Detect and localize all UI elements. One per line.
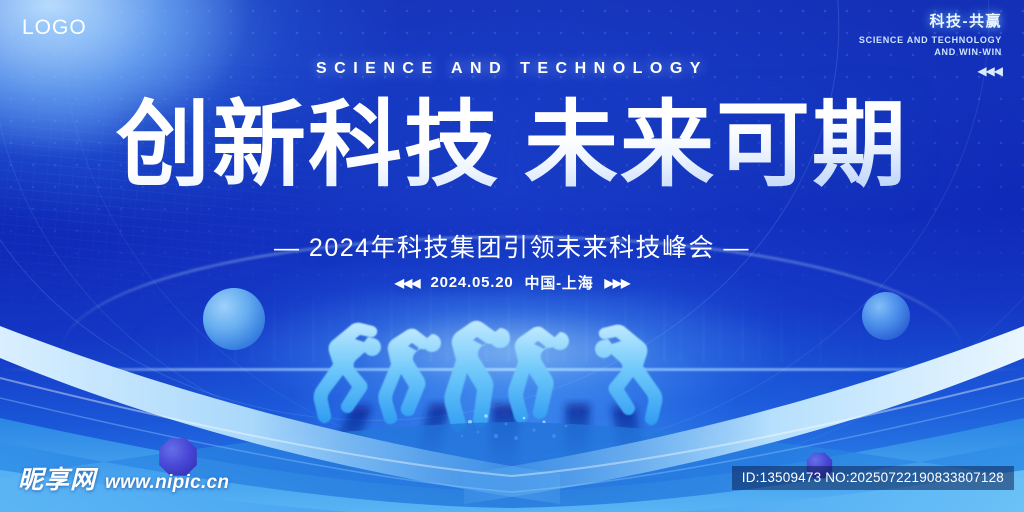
event-date: 2024.05.20 bbox=[430, 274, 513, 291]
logo-text[interactable]: LOGO bbox=[22, 16, 87, 40]
corner-slogan-en-line1: SCIENCE AND TECHNOLOGY bbox=[859, 35, 1002, 45]
title-part-right: 未来可期 bbox=[524, 94, 908, 198]
page-title: 创新科技未来可期 bbox=[0, 96, 1024, 198]
watermark: 昵享网 www.nipic.cn bbox=[18, 460, 229, 496]
subtitle-text: — 2024年科技集团引领未来科技峰会 — bbox=[0, 228, 1024, 264]
watermark-brand-cn: 昵享网 bbox=[18, 460, 96, 496]
corner-slogan-en-line2: AND WIN-WIN bbox=[859, 47, 1002, 57]
title-part-left: 创新科技 bbox=[116, 94, 500, 198]
event-meta: ◀◀◀ 2024.05.20 中国-上海 ▶▶▶ bbox=[0, 272, 1024, 293]
right-triangles-icon: ▶▶▶ bbox=[605, 276, 630, 290]
corner-slogan-cn: 科技-共赢 bbox=[859, 10, 1002, 31]
eyebrow-text: SCIENCE AND TECHNOLOGY bbox=[0, 60, 1024, 78]
event-location: 中国-上海 bbox=[525, 272, 594, 293]
watermark-url: www.nipic.cn bbox=[105, 472, 229, 494]
left-triangles-icon: ◀◀◀ bbox=[395, 276, 420, 290]
asset-id-label: ID:13509473 NO:20250722190833807128 bbox=[732, 466, 1014, 490]
poster-canvas: LOGO 科技-共赢 SCIENCE AND TECHNOLOGY AND WI… bbox=[0, 0, 1024, 512]
